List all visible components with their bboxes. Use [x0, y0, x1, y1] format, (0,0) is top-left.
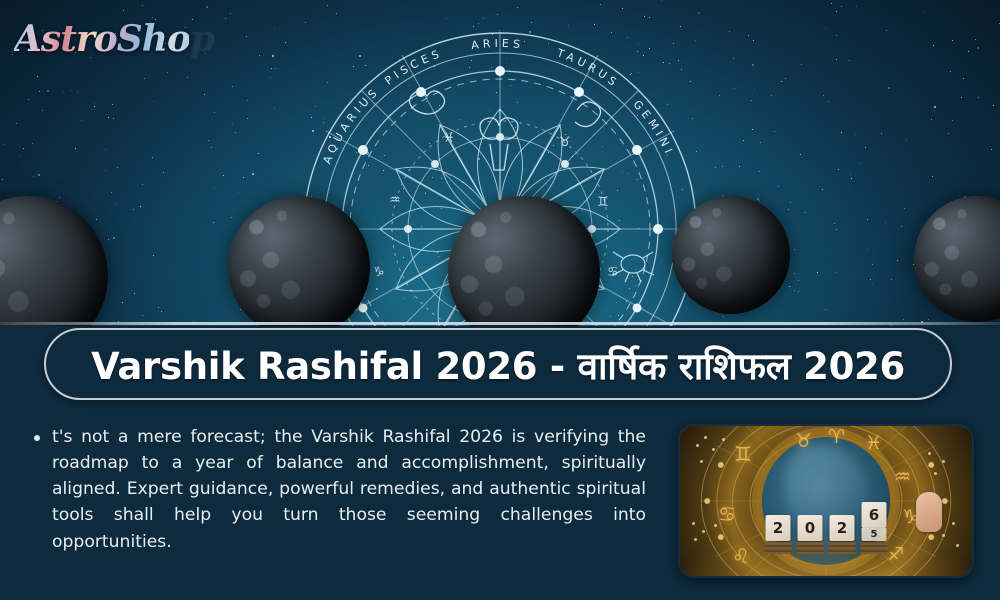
description-text: t's not a mere forecast; the Varshik Ras…: [52, 424, 646, 555]
year-block: 2: [829, 515, 856, 554]
coin-stack: [765, 542, 792, 554]
wheel-glyph-capricorn: ♑: [373, 265, 385, 280]
year-block-digit: 2: [766, 515, 791, 541]
title-banner: Varshik Rashifal 2026 - वार्षिक राशिफल 2…: [44, 328, 952, 400]
page-title: Varshik Rashifal 2026 - वार्षिक राशिफल 2…: [91, 339, 905, 390]
moon-2: [228, 196, 370, 326]
wheel-glyph-aquarius: ♒: [389, 193, 401, 208]
svg-text:AQUARIUS: AQUARIUS: [320, 84, 382, 165]
year-block-digit: 0: [798, 515, 823, 541]
bullet-point-marker: [34, 435, 40, 441]
year-block-digit: 2: [830, 515, 855, 541]
hero-divider: [0, 322, 1000, 325]
astro-shop-banner-page: AQUARIUS PISCES ARIES TAURUS GEMINI: [0, 0, 1000, 600]
year-block-digit: 6: [862, 502, 887, 528]
year-block-digit-next: 5: [862, 528, 887, 541]
wheel-sign-aquarius: AQUARIUS: [320, 84, 382, 165]
wheel-glyph-pisces: ♓: [443, 131, 455, 146]
year-block-flipping: 6 5: [861, 502, 888, 554]
wheel-glyph-taurus: ♉: [559, 135, 571, 150]
coin-stack: [861, 542, 888, 554]
wheel-sign-aries: ARIES: [470, 37, 524, 52]
year-block: 2: [765, 515, 792, 554]
year-blocks-2026: 2 0 2 6 5: [765, 502, 888, 554]
zodiac-2026-thumbnail[interactable]: ♊ ♉ ♈ ♓ ♒ ♑ ♐ ♋ ♌ 2 0 2 6 5: [678, 424, 974, 578]
wheel-glyph-gemini: ♊: [597, 195, 609, 210]
thumbnail-image: ♊ ♉ ♈ ♓ ♒ ♑ ♐ ♋ ♌ 2 0 2 6 5: [680, 426, 972, 576]
coin-stack: [797, 542, 824, 554]
year-block: 0: [797, 515, 824, 554]
coin-stack: [829, 542, 856, 554]
astroshop-logo[interactable]: AstroShop: [14, 18, 189, 66]
description-block: t's not a mere forecast; the Varshik Ras…: [0, 400, 660, 555]
svg-text:ARIES: ARIES: [470, 37, 524, 52]
moon-4: [672, 196, 790, 314]
